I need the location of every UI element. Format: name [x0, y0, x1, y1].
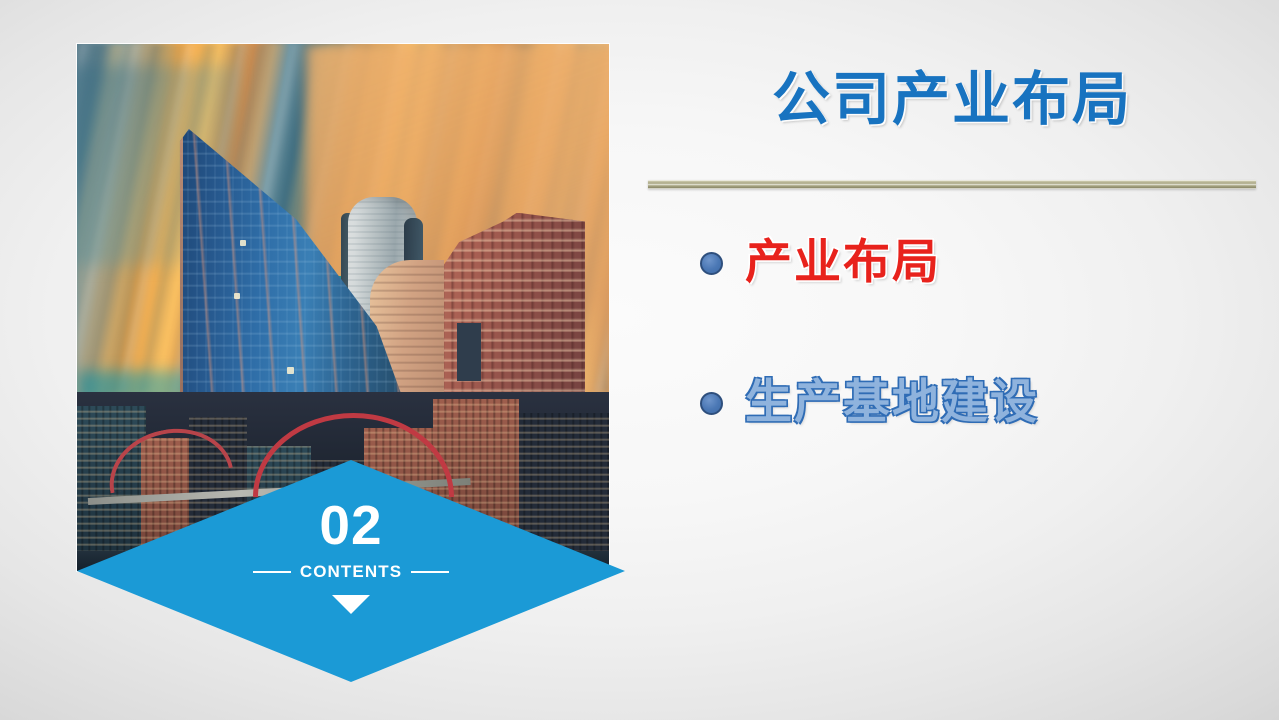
bullet-list: 产业布局 生产基地建设	[700, 236, 1260, 430]
presentation-slide: 02 CONTENTS 公司产业布局 产业布局 生产基地建设	[0, 0, 1279, 720]
bullet-label: 生产基地建设	[745, 376, 1039, 430]
lit-window	[287, 367, 294, 374]
list-item[interactable]: 产业布局	[700, 236, 1260, 290]
lit-window	[234, 293, 240, 299]
bullet-dot-icon	[700, 252, 723, 275]
bullet-dot-icon	[700, 392, 723, 415]
bullet-label: 产业布局	[745, 236, 941, 290]
list-item[interactable]: 生产基地建设	[700, 376, 1260, 430]
page-title: 公司产业布局	[648, 68, 1256, 132]
building-notch	[457, 323, 481, 381]
title-divider	[648, 180, 1256, 189]
lit-window	[240, 240, 246, 246]
